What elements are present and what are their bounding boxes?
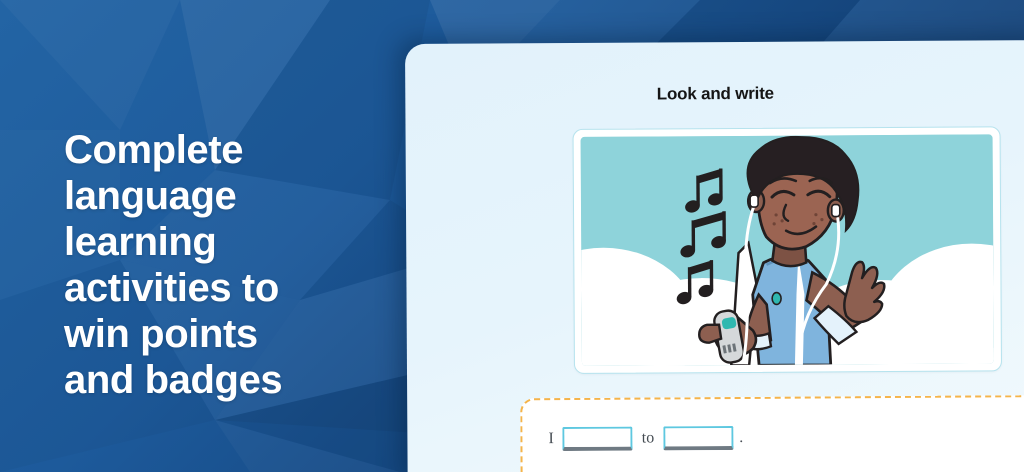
activity-title: Look and write (405, 82, 1024, 106)
screenshot-root: Complete language learning activities to… (0, 0, 1024, 472)
illustration-frame (573, 126, 1002, 374)
answer-blank-1[interactable] (563, 427, 633, 451)
promo-headline: Complete language learning activities to… (64, 127, 394, 403)
sentence-prefix: I (548, 430, 553, 448)
sentence-suffix: . (739, 429, 743, 447)
sentence-middle: to (642, 429, 655, 447)
boy-listening-to-music-illustration (581, 134, 994, 366)
answer-sentence: I to . (548, 426, 743, 451)
activity-card: Look and write (405, 40, 1024, 472)
answer-panel: I to . (520, 395, 1024, 472)
answer-blank-2[interactable] (663, 426, 733, 450)
illustration-image (581, 134, 994, 366)
